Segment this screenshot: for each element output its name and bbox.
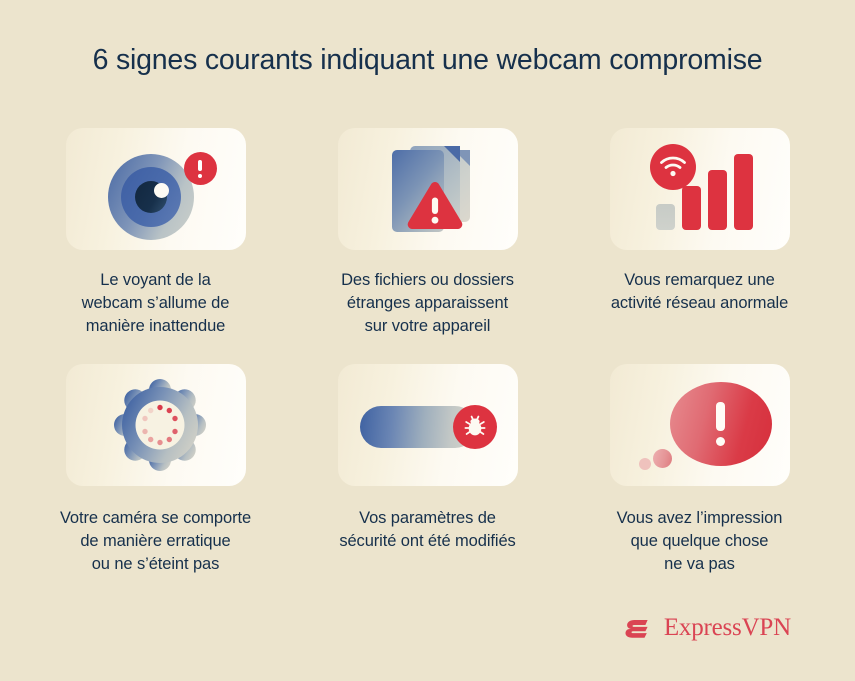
file-corner-fold-middle <box>444 146 460 162</box>
exclamation-glyph <box>198 160 202 178</box>
page-title: 6 signes courants indiquant une webcam c… <box>0 44 855 77</box>
files-warning-icon <box>384 142 484 238</box>
signal-bar-3 <box>734 154 753 230</box>
thought-bubble-small-2 <box>639 458 651 470</box>
signs-row-2: Votre caméra se comporte de manière erra… <box>0 364 855 576</box>
webcam-eye-alert-icon <box>98 146 214 238</box>
sign-caption-3: Vous remarquez une activité réseau anorm… <box>611 269 788 315</box>
sign-caption-2: Des fichiers ou dossiers étranges appara… <box>341 269 514 338</box>
signs-grid: Le voyant de la webcam s’allume de maniè… <box>0 128 855 576</box>
sign-illustration-6 <box>610 364 790 486</box>
sign-card-4: Votre caméra se comporte de manière erra… <box>31 364 281 576</box>
thought-bubble-exclamation-icon <box>634 376 774 480</box>
sign-card-1: Le voyant de la webcam s’allume de maniè… <box>31 128 281 338</box>
infographic-canvas: 6 signes courants indiquant une webcam c… <box>0 0 855 681</box>
signal-bar-inactive <box>656 204 675 230</box>
sign-caption-5: Vos paramètres de sécurité ont été modif… <box>339 507 515 553</box>
exclamation-glyph <box>716 402 725 446</box>
toggle-bug-icon <box>360 405 498 449</box>
sign-caption-4: Votre caméra se comporte de manière erra… <box>60 507 251 576</box>
sign-illustration-3 <box>610 128 790 250</box>
signal-bar-2 <box>708 170 727 230</box>
warning-triangle-icon <box>406 180 464 232</box>
expressvpn-mark-icon <box>621 611 655 645</box>
gear-spinner-icon <box>110 375 210 475</box>
sign-caption-1: Le voyant de la webcam s’allume de maniè… <box>82 269 230 338</box>
sign-card-3: Vous remarquez une activité réseau anorm… <box>575 128 825 338</box>
signs-row-1: Le voyant de la webcam s’allume de maniè… <box>0 128 855 338</box>
toggle-knob <box>453 405 497 449</box>
sign-card-2: Des fichiers ou dossiers étranges appara… <box>303 128 553 338</box>
sign-caption-6: Vous avez l’impression que quelque chose… <box>617 507 783 576</box>
thought-bubble-small-1 <box>653 449 672 468</box>
alert-exclamation-badge-icon <box>184 152 217 185</box>
sign-illustration-2 <box>338 128 518 250</box>
thought-bubble-main <box>670 382 772 466</box>
signal-bar-1 <box>682 186 701 230</box>
eye-highlight <box>154 183 169 198</box>
sign-card-5: Vos paramètres de sécurité ont été modif… <box>303 364 553 576</box>
sign-illustration-4 <box>66 364 246 486</box>
expressvpn-logo[interactable]: ExpressVPN <box>621 611 791 645</box>
sign-card-6: Vous avez l’impression que quelque chose… <box>575 364 825 576</box>
wifi-badge-icon <box>650 144 696 190</box>
sign-illustration-5 <box>338 364 518 486</box>
network-signal-wifi-icon <box>650 144 756 236</box>
sign-illustration-1 <box>66 128 246 250</box>
expressvpn-wordmark: ExpressVPN <box>664 614 791 642</box>
bug-glyph <box>462 414 488 440</box>
